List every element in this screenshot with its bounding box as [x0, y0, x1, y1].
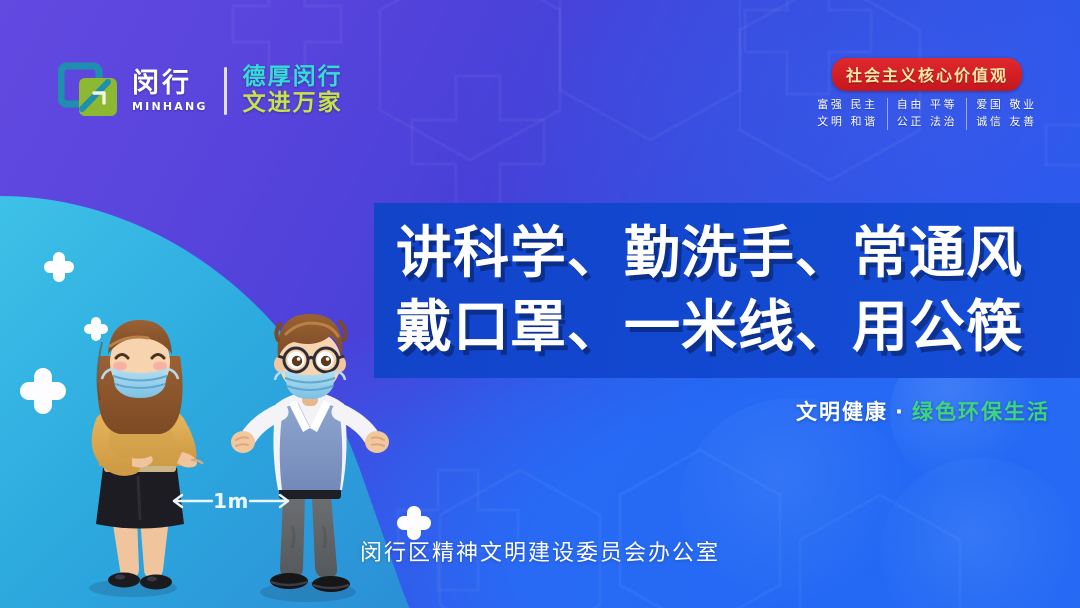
- brand-slogan-line2: 文进万家: [243, 91, 343, 117]
- tagline: 文明健康 · 绿色环保生活: [796, 396, 1050, 426]
- core-values-text: 富强 民主: [817, 98, 878, 113]
- distance-marker: 1m: [168, 486, 294, 516]
- background-glow-blob: [680, 398, 910, 608]
- core-values-block: 社会主义核心价值观 富强 民主 文明 和谐 自由 平等 公正 法治 爱国 敬业 …: [802, 58, 1052, 130]
- core-values-text: 公正 法治: [897, 115, 958, 130]
- headline-line2: 戴口罩、一米线、用公筷: [396, 291, 1064, 365]
- core-values-text: 自由 平等: [897, 98, 958, 113]
- brand-wordmark: 闵行 MINHANG: [132, 70, 208, 112]
- poster-canvas: 1m 闵行 MINHANG 德厚闵行 文进万家 社会主义核心价值观 富: [0, 0, 1080, 608]
- tagline-part1: 文明健康: [796, 396, 888, 426]
- brand-name-en: MINHANG: [132, 101, 208, 112]
- organization-name: 闵行区精神文明建设委员会办公室: [0, 535, 1080, 567]
- headline-line1: 讲科学、勤洗手、常通风: [396, 217, 1064, 291]
- core-values-title: 社会主义核心价值观: [846, 66, 1008, 85]
- core-values-text: 文明 和谐: [817, 115, 878, 130]
- white-cross-shape: [44, 252, 74, 282]
- brand-logo-lockup[interactable]: 闵行 MINHANG 德厚闵行 文进万家: [58, 62, 343, 120]
- core-values-text: 诚信 友善: [976, 115, 1037, 130]
- core-values-text: 爱国 敬业: [976, 98, 1037, 113]
- core-values-column: 自由 平等 公正 法治: [887, 98, 967, 130]
- core-values-column: 爱国 敬业 诚信 友善: [966, 98, 1046, 130]
- brand-slogan: 德厚闵行 文进万家: [243, 65, 343, 117]
- core-values-title-pill: 社会主义核心价值观: [832, 58, 1022, 91]
- distance-label: 1m: [211, 489, 251, 513]
- tagline-part2: 绿色环保生活: [912, 396, 1050, 426]
- core-values-column: 富强 民主 文明 和谐: [808, 98, 887, 130]
- core-values-columns: 富强 民主 文明 和谐 自由 平等 公正 法治 爱国 敬业 诚信 友善: [802, 98, 1052, 130]
- headline-banner: 讲科学、勤洗手、常通风 戴口罩、一米线、用公筷: [374, 203, 1080, 378]
- brand-slogan-line1: 德厚闵行: [243, 65, 343, 91]
- brand-name-cn: 闵行: [132, 70, 208, 97]
- tagline-separator: ·: [892, 400, 908, 424]
- logo-divider: [224, 67, 227, 115]
- minhang-square-logo-icon: [58, 62, 120, 120]
